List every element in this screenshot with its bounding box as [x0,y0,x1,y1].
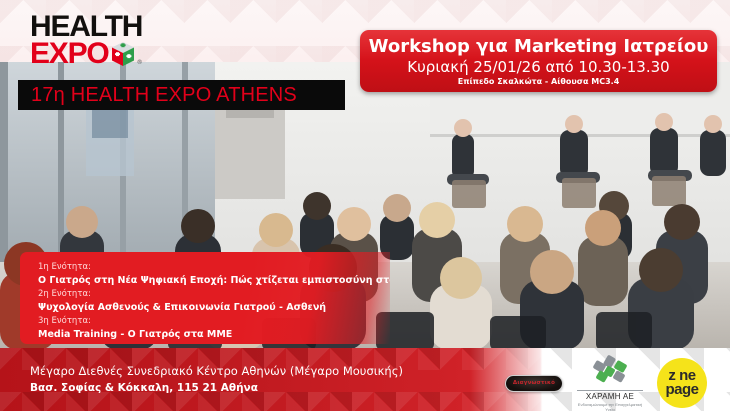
event-title-text: 17η HEALTH EXPO ATHENS [18,84,297,107]
sponsor-logo-diagnostiko: Διαγνωστικό [505,375,563,392]
sponsor-logo-zonepage: z ne page [657,358,707,408]
session-2-title: Ψυχολογία Ασθενούς & Επικοινωνία Γιατρού… [38,300,390,315]
venue-info: Μέγαρο Διεθνές Συνεδριακό Κέντρο Αθηνών … [30,363,403,396]
sponsor-zonepage-line2: page [665,383,698,397]
pinwheel-icon [588,355,632,385]
sponsor-diagnostiko-label: Διαγνωστικό [513,380,555,386]
workshop-title: Workshop για Marketing Ιατρείου [360,36,717,58]
session-1-title: Ο Γιατρός στη Νέα Ψηφιακή Εποχή: Πώς χτί… [38,273,390,288]
sponsor-charami-name: ΧΑΡΑΜΗ ΑΕ [577,390,643,401]
workshop-datetime: Κυριακή 25/01/26 από 10.30-13.30 [360,58,717,76]
registered-mark: ® [137,59,143,66]
sponsor-logos: Διαγνωστικό ΧΑΡΑΜΗ ΑΕ Ενδυναμώνουμε την … [505,355,730,411]
sponsor-charami-tagline: Ενδυναμώνουμε την Επαγγελματική Υγεία [577,402,643,411]
event-poster: HEALTH EXPO ® 17η HEALTH EXPO ATH [0,0,730,411]
health-cube-icon [110,41,136,67]
session-2-label: 2η Ενότητα: [38,288,390,300]
logo-line-health: HEALTH [30,13,143,40]
session-1-label: 1η Ενότητα: [38,261,390,273]
session-3-title: Media Training - Ο Γιατρός στα ΜΜΕ [38,327,390,342]
venue-name: Μέγαρο Διεθνές Συνεδριακό Κέντρο Αθηνών … [30,363,403,380]
logo-line-expo: EXPO [30,40,109,68]
sponsor-logo-charami: ΧΑΡΑΜΗ ΑΕ Ενδυναμώνουμε την Επαγγελματικ… [577,355,643,411]
session-3-label: 3η Ενότητα: [38,315,390,327]
venue-address: Βασ. Σοφίας & Κόκκαλη, 115 21 Αθήνα [30,380,403,396]
health-expo-logo: HEALTH EXPO ® [30,13,143,68]
event-title-bar: 17η HEALTH EXPO ATHENS [18,80,345,110]
workshop-room: Επίπεδο Σκαλκώτα - Αίθουσα MC3.4 [360,76,717,88]
sessions-panel: 1η Ενότητα: Ο Γιατρός στη Νέα Ψηφιακή Επ… [20,252,390,344]
workshop-banner: Workshop για Marketing Ιατρείου Κυριακή … [360,30,717,92]
